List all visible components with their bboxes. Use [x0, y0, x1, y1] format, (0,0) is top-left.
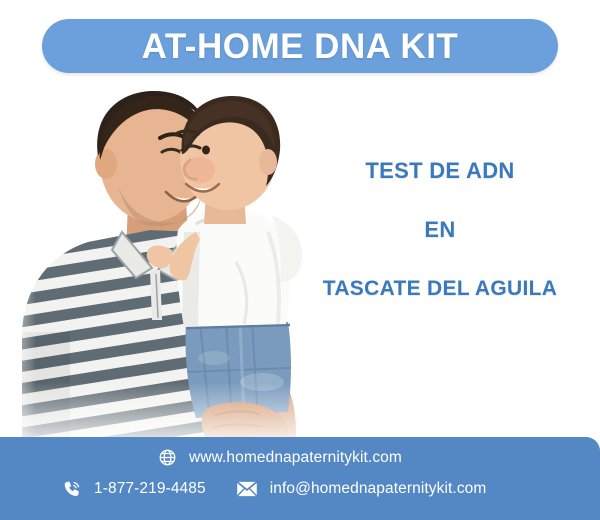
- footer-website-text[interactable]: www.homednapaternitykit.com: [189, 450, 402, 466]
- envelope-icon: [236, 481, 258, 497]
- footer-website-row: www.homednapaternitykit.com: [158, 448, 402, 467]
- family-photo-illustration: [0, 82, 330, 452]
- banner-pill: AT-HOME DNA KIT: [42, 19, 558, 73]
- banner-title: AT-HOME DNA KIT: [142, 29, 459, 64]
- headline-line-1: TEST DE ADN: [290, 160, 590, 182]
- poster-root: AT-HOME DNA KIT: [0, 0, 600, 520]
- phone-icon: [62, 479, 82, 499]
- headline-line-3: TASCATE DEL AGUILA: [290, 278, 590, 299]
- footer-phone-text[interactable]: 1-877-219-4485: [94, 481, 206, 497]
- headline-block: TEST DE ADN EN TASCATE DEL AGUILA: [290, 160, 590, 299]
- footer-bar: www.homednapaternitykit.com 1-877-219-44…: [0, 437, 600, 520]
- globe-icon: [158, 448, 177, 467]
- footer-contact-row: 1-877-219-4485 info@homednapaternitykit.…: [62, 479, 486, 499]
- headline-line-2: EN: [290, 219, 590, 241]
- family-photo: [0, 82, 330, 452]
- footer-email-text[interactable]: info@homednapaternitykit.com: [270, 481, 487, 497]
